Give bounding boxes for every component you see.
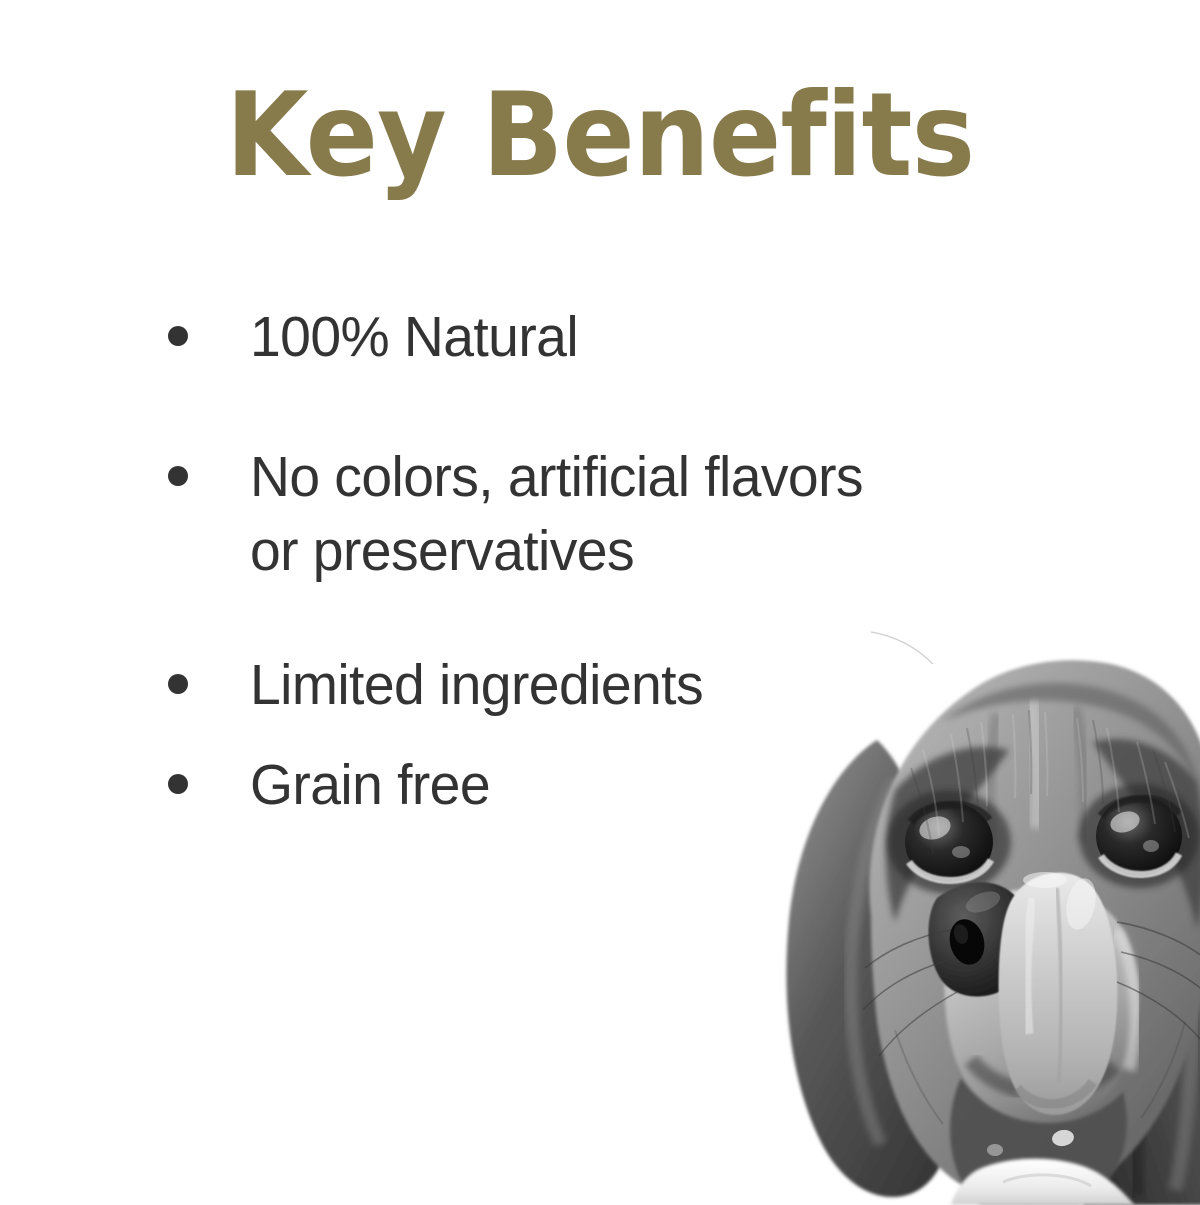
list-item: Limited ingredients (168, 648, 1068, 722)
list-item: No colors, artificial flavors or preserv… (168, 440, 1068, 588)
dog-right-eye (1079, 784, 1199, 888)
bullet-icon (168, 774, 188, 794)
dog-chest (951, 1159, 1135, 1205)
dog-nose (928, 882, 1028, 996)
dog-muzzle (944, 889, 1138, 1124)
dog-right-ear (1080, 726, 1200, 1205)
key-benefits-list: 100% Natural No colors, artificial flavo… (168, 300, 1068, 822)
dog-chin (950, 1078, 1127, 1204)
list-item: 100% Natural (168, 300, 1068, 374)
bullet-icon (168, 674, 188, 694)
bullet-icon (168, 466, 188, 486)
bullet-icon (168, 326, 188, 346)
dog-tongue (999, 872, 1118, 1115)
benefit-label: No colors, artificial flavors or preserv… (250, 440, 863, 588)
list-item: Grain free (168, 748, 1068, 822)
benefit-label: Grain free (250, 748, 490, 822)
benefit-label: 100% Natural (250, 300, 578, 374)
benefit-label: Limited ingredients (250, 648, 703, 722)
page-title: Key Benefits (48, 78, 1152, 194)
promo-card: Key Benefits 100% Natural No colors, art… (0, 0, 1200, 1200)
